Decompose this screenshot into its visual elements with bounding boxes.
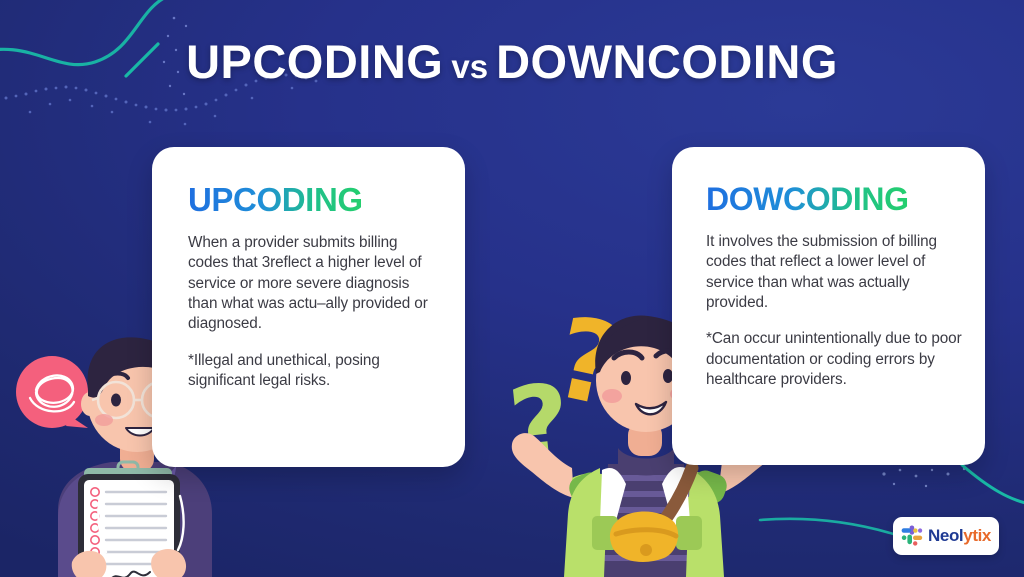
- eye-left: [621, 371, 631, 385]
- sparkle-dots: [882, 468, 965, 487]
- cheek-left: [602, 389, 622, 403]
- card-upcoding: UPCODING When a provider submits billing…: [152, 147, 465, 467]
- card-downcoding-note: *Can occur unintentionally due to poor d…: [706, 329, 967, 390]
- teal-curve-bottom-right: [962, 465, 1024, 504]
- card-upcoding-heading: UPCODING: [188, 181, 363, 219]
- neolytix-mark-icon: [901, 525, 923, 547]
- page-title: UPCODINGvsDOWNCODING: [0, 34, 1024, 89]
- speech-bubble-scribble: [16, 356, 88, 428]
- bag-button: [640, 544, 652, 556]
- title-vs: vs: [451, 48, 488, 85]
- card-upcoding-note: *Illegal and unethical, posing significa…: [188, 351, 439, 392]
- infographic-canvas: UPCODINGvsDOWNCODING: [0, 0, 1024, 577]
- card-downcoding-heading: DOWCODING: [706, 181, 909, 218]
- logo-name-suffix: ytix: [963, 526, 991, 545]
- cheek-left: [95, 414, 113, 426]
- pocket-right: [676, 516, 702, 550]
- neolytix-wordmark: Neolytix: [928, 526, 991, 546]
- card-upcoding-description: When a provider submits billing codes th…: [188, 233, 439, 335]
- neolytix-logo[interactable]: Neolytix: [893, 517, 999, 555]
- logo-name-prefix: Neol: [928, 526, 963, 545]
- card-downcoding: DOWCODING It involves the submission of …: [672, 147, 985, 465]
- card-downcoding-description: It involves the submission of billing co…: [706, 232, 967, 313]
- title-upcoding: UPCODING: [186, 35, 443, 88]
- title-downcoding: DOWNCODING: [496, 35, 838, 88]
- eye-left: [111, 394, 121, 407]
